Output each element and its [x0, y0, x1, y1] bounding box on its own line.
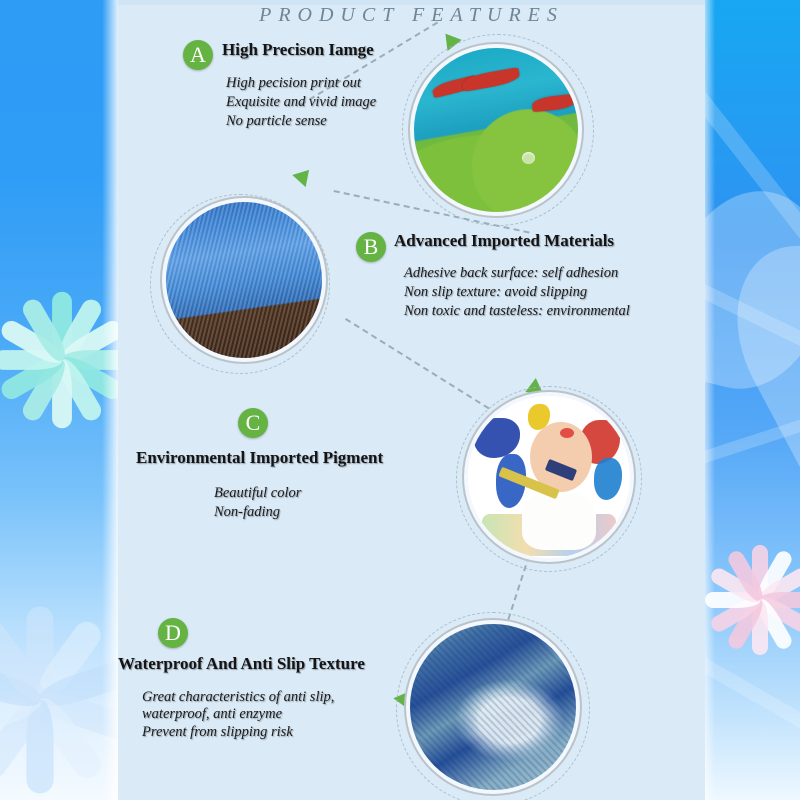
desc-d-line-2: waterproof, anti enzyme: [142, 705, 282, 724]
product-features-infographic: PRODUCT FEATURES A High Precison Iamge H…: [0, 0, 800, 800]
page-title: PRODUCT FEATURES: [118, 4, 705, 27]
badge-c: C: [238, 408, 268, 438]
paint-splatter: [474, 418, 520, 458]
badge-a: A: [183, 40, 213, 70]
left-decorative-panel: [0, 0, 118, 800]
desc-a-line-2: Exquisite and vivid image: [226, 93, 376, 112]
water-droplet-texture-photo: [410, 624, 576, 790]
badge-d: D: [158, 618, 188, 648]
arrow-icon-b: [292, 164, 315, 187]
main-content-panel: PRODUCT FEATURES A High Precison Iamge H…: [118, 0, 705, 800]
heading-b: Advanced Imported Materials: [394, 231, 614, 251]
right-decorative-panel: [705, 0, 800, 800]
desc-c-line-1: Beautiful color: [214, 484, 301, 503]
desc-c-line-2: Non-fading: [214, 503, 280, 522]
badge-b: B: [356, 232, 386, 262]
blue-ribbed-fabric-photo: [166, 202, 322, 358]
desc-d-line-3: Prevent from slipping risk: [142, 723, 293, 742]
desc-a-line-3: No particle sense: [226, 112, 327, 131]
desc-b-line-1: Adhesive back surface: self adhesion: [404, 264, 618, 283]
paint-splatter: [594, 458, 622, 500]
water-drop-shape: [522, 152, 535, 164]
heading-d: Waterproof And Anti Slip Texture: [118, 654, 365, 674]
koi-fish-shape: [531, 94, 576, 113]
koi-fish-lotus-leaf-photo: [414, 48, 578, 212]
heading-a: High Precison Iamge: [222, 40, 374, 60]
koi-fish-shape: [461, 67, 521, 92]
desc-a-line-1: High pecision print out: [226, 74, 361, 93]
desc-b-line-2: Non slip texture: avoid slipping: [404, 283, 587, 302]
paint-on-face: [560, 428, 574, 438]
baby-body-shape: [522, 492, 596, 550]
diagonal-band: [705, 640, 800, 782]
desc-b-line-3: Non toxic and tasteless: environmental: [404, 302, 630, 321]
heading-c: Environmental Imported Pigment: [136, 448, 383, 468]
baby-painting-photo: [468, 396, 630, 558]
